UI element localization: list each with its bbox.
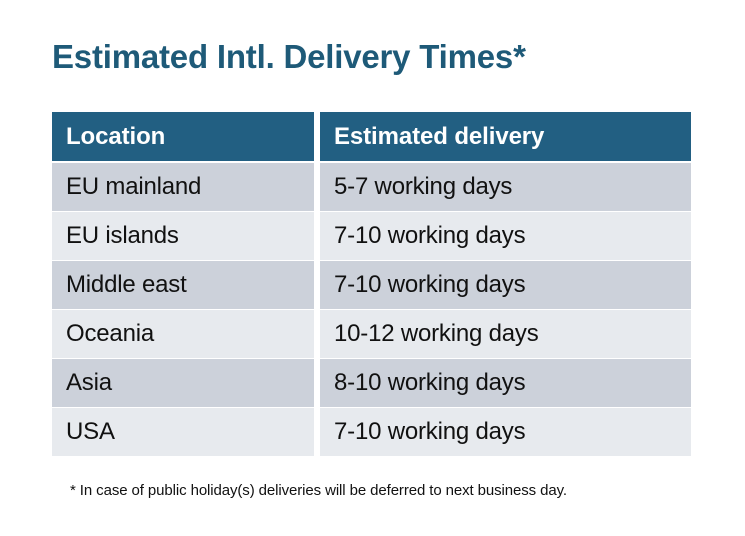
cell-location: Oceania <box>52 310 314 358</box>
table-row: Asia 8-10 working days <box>52 359 691 407</box>
page-title: Estimated Intl. Delivery Times* <box>52 37 526 77</box>
cell-estimated-delivery: 5-7 working days <box>320 163 691 211</box>
cell-location: EU islands <box>52 212 314 260</box>
table-row: EU mainland 5-7 working days <box>52 163 691 211</box>
cell-location: Asia <box>52 359 314 407</box>
delivery-times-page: Estimated Intl. Delivery Times* Location… <box>0 0 745 536</box>
cell-estimated-delivery: 7-10 working days <box>320 212 691 260</box>
cell-location: EU mainland <box>52 163 314 211</box>
delivery-times-table: Location Estimated delivery EU mainland … <box>52 112 691 456</box>
table-row: EU islands 7-10 working days <box>52 212 691 260</box>
table-header-row: Location Estimated delivery <box>52 112 691 161</box>
cell-estimated-delivery: 7-10 working days <box>320 261 691 309</box>
column-header-location: Location <box>52 112 314 161</box>
table-row: Middle east 7-10 working days <box>52 261 691 309</box>
table-row: Oceania 10-12 working days <box>52 310 691 358</box>
cell-location: USA <box>52 408 314 456</box>
cell-estimated-delivery: 7-10 working days <box>320 408 691 456</box>
column-header-estimated-delivery: Estimated delivery <box>320 112 691 161</box>
cell-location: Middle east <box>52 261 314 309</box>
cell-estimated-delivery: 10-12 working days <box>320 310 691 358</box>
footnote-text: * In case of public holiday(s) deliverie… <box>70 481 567 501</box>
cell-estimated-delivery: 8-10 working days <box>320 359 691 407</box>
table-row: USA 7-10 working days <box>52 408 691 456</box>
